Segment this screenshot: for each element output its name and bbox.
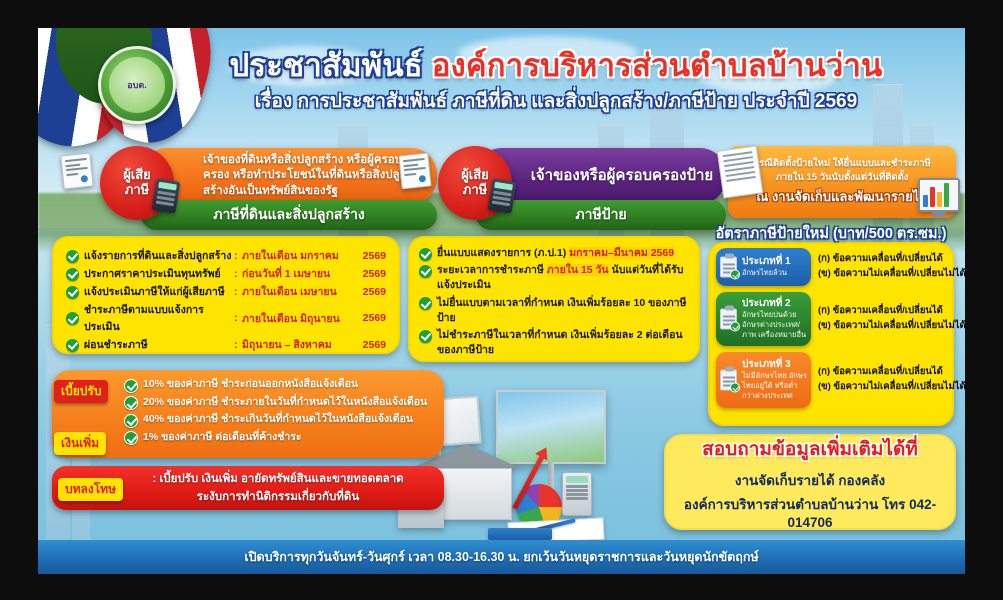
right-payer-badge-line1: ผู้เสีย xyxy=(461,168,489,183)
check-icon xyxy=(124,414,138,428)
schedule-period: ภายในเดือน มกราคม xyxy=(242,247,352,264)
schedule-colon: : xyxy=(234,250,242,262)
schedule-label: ผ่อนชำระภาษี xyxy=(84,336,234,353)
book-prop xyxy=(488,528,552,540)
schedule-label: ประกาศราคาประเมินทุนทรัพย์ xyxy=(84,265,234,282)
billboard-item-text: ไม่ยื่นแบบตามเวลาที่กำหนด เงินเพิ่มร้อยล… xyxy=(437,296,689,326)
contact-headline: สอบถามข้อมูลเพิ่มเติมได้ที่ xyxy=(702,434,918,464)
penalty-text: 20% ของค่าภาษี ชำระภายในวันที่กำหนดไว้ใน… xyxy=(143,395,427,410)
rate-cells: (ก) ข้อความเคลื่อนที่/เปลี่ยนได้ (ข) ข้อ… xyxy=(811,248,965,286)
check-icon xyxy=(124,396,138,410)
document-icon xyxy=(398,153,431,190)
rate-table-title: อัตราภาษีป้ายใหม่ (บาท/500 ตร.ซม.) xyxy=(706,222,956,245)
left-payer-description: เจ้าของที่ดินหรือสิ่งปลูกสร้าง หรือผู้คร… xyxy=(203,153,427,200)
form-document-icon xyxy=(717,145,763,198)
poster-header: ประชาสัมพันธ์ องค์การบริหารส่วนตำบลบ้านว… xyxy=(186,50,926,116)
check-icon xyxy=(66,312,79,325)
schedule-colon: : xyxy=(234,268,242,280)
check-icon xyxy=(124,379,138,393)
rate-table-row: ประเภทที่ 3 ไม่มีอักษรไทย อักษรไทยอยู่ใต… xyxy=(716,352,950,408)
sanction-line1: : เบี้ยปรับ เงินเพิ่ม อายัดทรัพย์สินและข… xyxy=(152,470,403,488)
sanction-tag: บทลงโทษ xyxy=(58,478,123,501)
right-tax-type-label: ภาษีป้าย xyxy=(575,204,626,226)
right-payer-badge-line2: ภาษี xyxy=(463,183,487,198)
rate-cell-text: (ก) ข้อความเคลื่อนที่/เปลี่ยนได้ xyxy=(818,304,965,319)
rate-type-title: ประเภทที่ 3 xyxy=(742,359,807,371)
penalty-card: 10% ของค่าภาษี ชำระก่อนออกหนังสือแจ้งเตื… xyxy=(52,370,444,458)
left-tax-type-label: ภาษีที่ดินและสิ่งปลูกสร้าง xyxy=(213,204,364,226)
billboard-item-text: ยื่นแบบแสดงรายการ (ภ.ป.1) xyxy=(437,247,566,259)
rate-cells: (ก) ข้อความเคลื่อนที่/เปลี่ยนได้ (ข) ข้อ… xyxy=(811,352,965,408)
penalty-row: 10% ของค่าภาษี ชำระก่อนออกหนังสือแจ้งเตื… xyxy=(124,377,434,393)
billboard-item-highlight: มกราคม–มีนาคม 2569 xyxy=(569,247,674,259)
contact-org-phone: องค์การบริหารส่วนตำบลบ้านว่าน โทร 042-01… xyxy=(666,493,954,530)
rate-cells: (ก) ข้อความเคลื่อนที่/เปลี่ยนได้ (ข) ข้อ… xyxy=(811,292,965,346)
schedule-label: ชำระภาษีตามแบบแจ้งการประเมิน xyxy=(84,301,234,335)
clipboard-check-icon xyxy=(720,370,737,391)
footer-text: เปิดบริการทุกวันจันทร์-วันศุกร์ เวลา 08.… xyxy=(244,547,758,567)
check-icon xyxy=(419,265,432,278)
schedule-period: ภายในเดือน เมษายน xyxy=(242,283,352,300)
schedule-year: 2569 xyxy=(352,312,386,324)
schedule-row: ผ่อนชำระภาษี : มิถุนายน – สิงหาคม 2569 xyxy=(66,336,386,353)
schedule-label: แจ้งประเมินภาษีให้แก่ผู้เสียภาษี xyxy=(84,283,234,300)
billboard-item-highlight: ภายใน 15 วัน xyxy=(547,264,609,276)
footer-bar: เปิดบริการทุกวันจันทร์-วันศุกร์ เวลา 08.… xyxy=(38,540,965,574)
header-subtitle: เรื่อง การประชาสัมพันธ์ ภาษีที่ดิน และสิ… xyxy=(186,86,926,116)
rate-type-sub: อักษรไทยปนด้วย อักษรต่างประเทศ/ภาพ เครื่… xyxy=(742,310,807,340)
schedule-colon: : xyxy=(234,286,242,298)
left-payer-badge-line1: ผู้เสีย xyxy=(123,168,151,183)
right-tax-type-banner: ภาษีป้าย xyxy=(476,200,726,230)
rate-type-title: ประเภทที่ 2 xyxy=(742,298,807,310)
billboard-item: ระยะเวลาการชำระภาษี ภายใน 15 วัน นับแต่ว… xyxy=(419,263,689,293)
organization-logo: อบต. xyxy=(98,46,176,124)
clipboard-check-icon xyxy=(720,309,737,330)
billboard-item: ไม่ชำระภาษีในเวลาที่กำหนด เงินเพิ่มร้อยล… xyxy=(419,328,689,358)
penalty-row: 40% ของค่าภาษี ชำระเกินวันที่กำหนดไว้ในห… xyxy=(124,412,434,428)
rate-cell-text: (ข) ข้อความไม่เคลื่อนที่/เปลี่ยนไม่ได้ xyxy=(818,267,965,282)
rate-cell-text: (ข) ข้อความไม่เคลื่อนที่/เปลี่ยนไม่ได้ xyxy=(818,319,965,334)
schedule-year: 2569 xyxy=(352,339,386,351)
check-icon xyxy=(419,297,432,310)
fine-tag: เบี้ยปรับ xyxy=(54,380,108,403)
calculator-prop xyxy=(562,472,592,516)
rate-cell-text: (ข) ข้อความไม่เคลื่อนที่/เปลี่ยนไม่ได้ xyxy=(818,380,965,395)
notice-line1: กรณีติดตั้งป้ายใหม่ ให้ยื่นแบบและชำระภาษ… xyxy=(753,157,931,171)
penalty-text: 1% ของค่าภาษี ต่อเดือนที่ค้างชำระ xyxy=(143,430,302,445)
surcharge-tag: เงินเพิ่ม xyxy=(54,432,106,455)
penalty-text: 40% ของค่าภาษี ชำระเกินวันที่กำหนดไว้ในห… xyxy=(143,412,413,427)
left-payer-badge-line2: ภาษี xyxy=(125,183,149,198)
schedule-row: แจ้งรายการที่ดินและสิ่งปลูกสร้าง : ภายใน… xyxy=(66,247,386,264)
schedule-colon: : xyxy=(234,339,242,351)
billboard-item-text: ไม่ชำระภาษีในเวลาที่กำหนด เงินเพิ่มร้อยล… xyxy=(437,328,689,358)
check-icon xyxy=(124,431,138,445)
contact-office: งานจัดเก็บรายได้ กองคลัง xyxy=(735,469,885,491)
billboard-item: ไม่ยื่นแบบตามเวลาที่กำหนด เงินเพิ่มร้อยล… xyxy=(419,296,689,326)
billboard-item: ยื่นแบบแสดงรายการ (ภ.ป.1) มกราคม–มีนาคม … xyxy=(419,246,689,261)
document-icon xyxy=(60,153,93,190)
penalty-text: 10% ของค่าภาษี ชำระก่อนออกหนังสือแจ้งเตื… xyxy=(143,377,358,392)
rate-cell-text: (ก) ข้อความเคลื่อนที่/เปลี่ยนได้ xyxy=(818,365,965,380)
notice-line2: ภายใน 15 วันนับตั้งแต่วันที่ติดตั้ง xyxy=(776,171,909,185)
rate-type-label: ประเภทที่ 1 อักษรไทยล้วน xyxy=(716,248,811,286)
check-icon xyxy=(419,248,432,261)
check-icon xyxy=(66,268,79,281)
rate-type-title: ประเภทที่ 1 xyxy=(742,256,807,268)
penalty-row: 20% ของค่าภาษี ชำระภายในวันที่กำหนดไว้ใน… xyxy=(124,395,434,411)
logo-label: อบต. xyxy=(109,57,165,113)
schedule-period: ภายในเดือน มิถุนายน xyxy=(242,310,352,327)
left-payer-banner: เจ้าของที่ดินหรือสิ่งปลูกสร้าง หรือผู้คร… xyxy=(141,148,437,204)
rate-table: ประเภทที่ 1 อักษรไทยล้วน (ก) ข้อความเคลื… xyxy=(716,248,950,414)
land-tax-schedule-card: แจ้งรายการที่ดินและสิ่งปลูกสร้าง : ภายใน… xyxy=(52,236,400,354)
schedule-label: แจ้งรายการที่ดินและสิ่งปลูกสร้าง xyxy=(84,247,234,264)
penalty-row: 1% ของค่าภาษี ต่อเดือนที่ค้างชำระ xyxy=(124,430,434,446)
rate-table-row: ประเภทที่ 2 อักษรไทยปนด้วย อักษรต่างประเ… xyxy=(716,292,950,346)
header-title-line: ประชาสัมพันธ์ องค์การบริหารส่วนตำบลบ้านว… xyxy=(186,50,926,83)
notice-line3: ณ งานจัดเก็บและพัฒนารายได้ xyxy=(756,186,928,207)
chart-monitor-icon xyxy=(918,178,960,212)
left-tax-type-banner: ภาษีที่ดินและสิ่งปลูกสร้าง xyxy=(141,200,437,230)
billboard-item-text: ระยะเวลาการชำระภาษี xyxy=(437,264,544,276)
poster-canvas: อบต. ประชาสัมพันธ์ องค์การบริหารส่วนตำบล… xyxy=(38,28,965,574)
clipboard-check-icon xyxy=(720,257,737,278)
schedule-year: 2569 xyxy=(352,268,386,280)
calculator-icon xyxy=(152,178,181,213)
rate-table-row: ประเภทที่ 1 อักษรไทยล้วน (ก) ข้อความเคลื… xyxy=(716,248,950,286)
check-icon xyxy=(66,250,79,263)
schedule-year: 2569 xyxy=(352,286,386,298)
schedule-colon: : xyxy=(234,312,242,324)
schedule-row: ประกาศราคาประเมินทุนทรัพย์ : ก่อนวันที่ … xyxy=(66,265,386,282)
contact-card: สอบถามข้อมูลเพิ่มเติมได้ที่ งานจัดเก็บรา… xyxy=(664,434,956,530)
rate-type-sub: ไม่มีอักษรไทย อักษรไทยอยู่ใต้ หรือต่ำกว่… xyxy=(742,371,807,401)
rate-type-sub: อักษรไทยล้วน xyxy=(742,268,807,278)
schedule-period: ก่อนวันที่ 1 เมษายน xyxy=(242,265,352,282)
header-title-red: องค์การบริหารส่วนตำบลบ้านว่าน xyxy=(432,48,883,83)
check-icon xyxy=(66,339,79,352)
calculator-icon xyxy=(488,178,517,213)
rate-type-label: ประเภทที่ 2 อักษรไทยปนด้วย อักษรต่างประเ… xyxy=(716,292,811,346)
rate-type-label: ประเภทที่ 3 ไม่มีอักษรไทย อักษรไทยอยู่ใต… xyxy=(716,352,811,408)
right-payer-description: เจ้าของหรือผู้ครอบครองป้าย xyxy=(528,166,716,186)
sanction-line2: ระงับการทำนิติกรรมเกี่ยวกับที่ดิน xyxy=(197,488,359,506)
schedule-year: 2569 xyxy=(352,250,386,262)
schedule-period: มิถุนายน – สิงหาคม xyxy=(242,336,352,353)
rate-cell-text: (ก) ข้อความเคลื่อนที่/เปลี่ยนได้ xyxy=(818,252,965,267)
schedule-row: ชำระภาษีตามแบบแจ้งการประเมิน : ภายในเดือ… xyxy=(66,301,386,335)
schedule-row: แจ้งประเมินภาษีให้แก่ผู้เสียภาษี : ภายใน… xyxy=(66,283,386,300)
header-title-white: ประชาสัมพันธ์ xyxy=(230,48,423,83)
check-icon xyxy=(66,286,79,299)
billboard-tax-card: ยื่นแบบแสดงรายการ (ภ.ป.1) มกราคม–มีนาคม … xyxy=(408,236,700,362)
check-icon xyxy=(419,330,432,343)
